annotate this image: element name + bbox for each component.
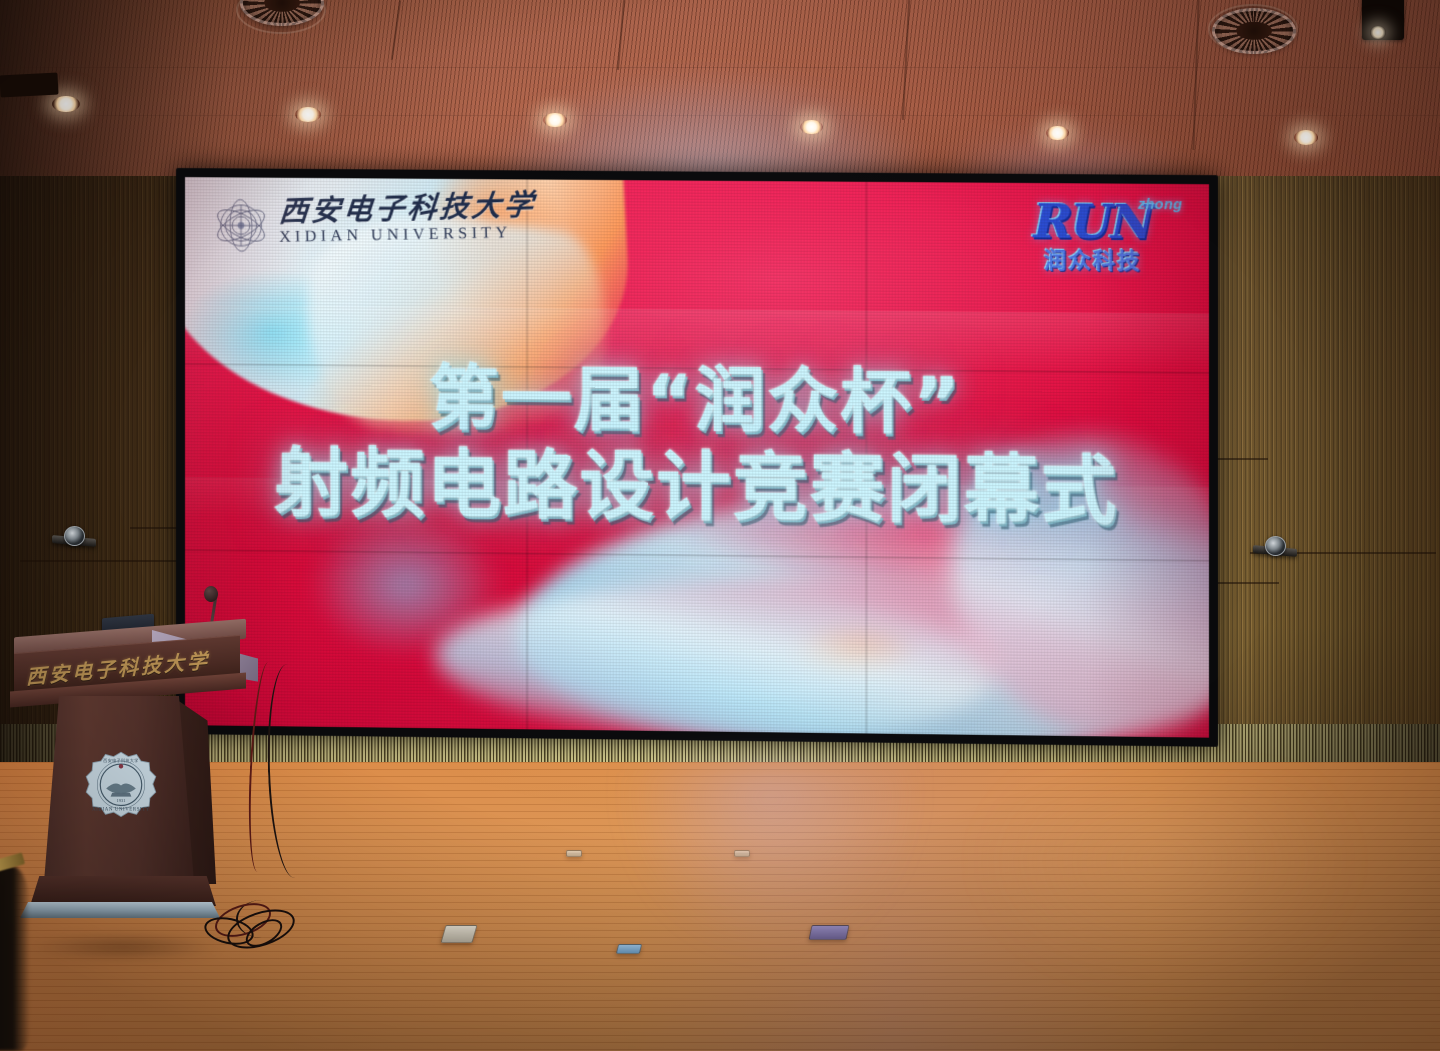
lectern-plinth: [30, 876, 216, 906]
floor-outlet-box: [440, 925, 477, 943]
ceiling-downlight-icon: [295, 107, 321, 122]
ceiling-recess-dark: [0, 72, 59, 97]
xidian-name-block: 西安电子科技大学 XIDIAN UNIVERSITY: [279, 194, 500, 246]
lectern-kickplate: [20, 902, 220, 918]
crest-chinese-text: 西安电子科技大学: [103, 757, 138, 763]
run-text: RUN: [1033, 194, 1152, 250]
ceiling-downlight-icon: [800, 120, 823, 134]
xidian-university-logo: 西安电子科技大学 XIDIAN UNIVERSITY: [203, 189, 494, 269]
ceiling-downlight-icon: [1294, 130, 1318, 145]
spot-light-icon: [1370, 26, 1386, 39]
ceiling-light-wash: [430, 0, 990, 190]
microphone-head-icon: [204, 586, 218, 602]
xidian-university-crest: 1931 XIDIAN UNIVERSITY 西安电子科技大学: [84, 750, 158, 824]
wall-panel-joint: [20, 560, 200, 562]
xidian-english-name: XIDIAN UNIVERSITY: [279, 225, 500, 247]
crest-english-text: XIDIAN UNIVERSITY: [92, 808, 150, 813]
xidian-seal-icon: [207, 191, 275, 260]
led-screen-frame: 西安电子科技大学 XIDIAN UNIVERSITY RUN zhong 润众科…: [176, 168, 1218, 747]
crest-year: 1931: [117, 798, 126, 803]
foreground-object: [0, 866, 30, 1051]
zhongrun-technology-logo: RUN zhong 润众科技: [1001, 199, 1184, 287]
ceiling-downlight-icon: [1046, 126, 1069, 140]
floor-marker: [566, 850, 582, 857]
ceiling-downlight-icon: [543, 113, 567, 127]
ceiling-downlight-icon: [52, 96, 80, 112]
run-wordmark: RUN zhong: [1001, 199, 1184, 246]
wall-panel-joint: [1212, 458, 1268, 460]
wall-mounted-camera-left: [52, 526, 100, 548]
wall-panel-joint: [1215, 582, 1279, 584]
event-title-line-1: 第一届“润众杯”: [185, 357, 1209, 445]
camera-lens-icon: [1265, 536, 1286, 556]
vent-center: [264, 0, 300, 12]
event-title-line-2: 射频电路设计竞赛闭幕式: [185, 441, 1209, 534]
lectern: 西安电子科技大学 1931 XIDIAN UNIVERSITY 西安电子科技大学: [6, 614, 256, 944]
vent-center: [1236, 22, 1272, 40]
floor-outlet-box: [808, 925, 849, 940]
event-title-block: 第一届“润众杯” 射频电路设计竞赛闭幕式: [185, 357, 1209, 535]
floor-outlet-box: [616, 944, 642, 954]
camera-lens-icon: [64, 526, 85, 546]
floor-marker: [734, 850, 750, 857]
wall-mounted-camera-right: [1253, 536, 1301, 558]
zhong-superscript: zhong: [1138, 198, 1183, 212]
xidian-chinese-name: 西安电子科技大学: [278, 191, 501, 226]
air-diffuser-vent-icon: [1212, 8, 1296, 54]
led-screen-display: 西安电子科技大学 XIDIAN UNIVERSITY RUN zhong 润众科…: [185, 177, 1209, 738]
auditorium-stage-photo: 西安电子科技大学 XIDIAN UNIVERSITY RUN zhong 润众科…: [0, 0, 1440, 1051]
